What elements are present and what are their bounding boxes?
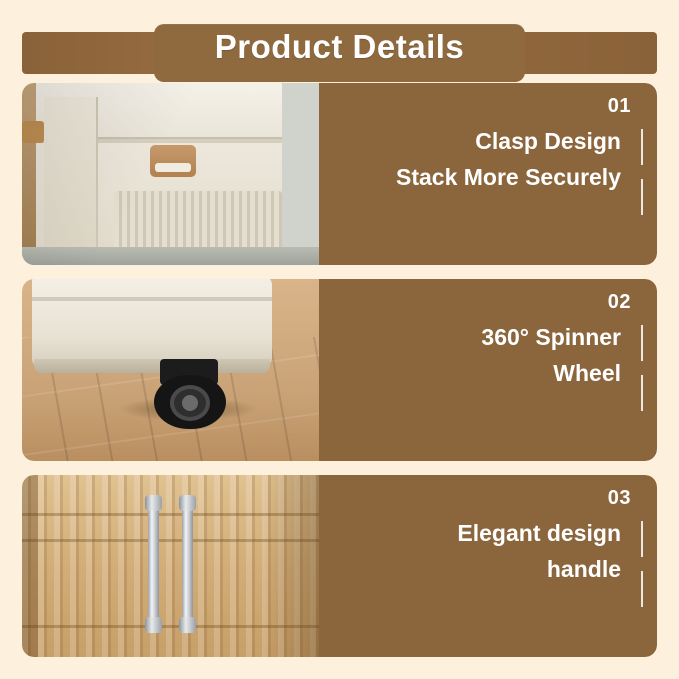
feature-caption-line-2: handle <box>333 552 621 588</box>
mat-edge-right <box>263 475 319 657</box>
feature-text-panel: 02 360° Spinner Wheel <box>319 279 657 461</box>
feature-caption-line-2: Stack More Securely <box>333 160 621 196</box>
feature-number: 03 <box>608 487 631 510</box>
photo-shading <box>22 83 319 265</box>
feature-image-wheel <box>22 279 319 461</box>
feature-caption-line-1: 360° Spinner <box>333 320 621 356</box>
feature-caption-line-1: Clasp Design <box>333 124 621 160</box>
caption-divider-lower <box>641 375 643 411</box>
feature-caption: Clasp Design Stack More Securely <box>333 124 635 195</box>
caption-divider-upper <box>641 521 643 557</box>
header-banner: Product Details <box>22 24 657 69</box>
luggage-case-bottom <box>32 279 272 367</box>
feature-caption: 360° Spinner Wheel <box>333 320 635 391</box>
case-base-edge <box>34 359 270 373</box>
metal-handle-rod-right <box>182 503 193 625</box>
product-details-page: Product Details 01 Clasp Design St <box>0 0 679 679</box>
feature-image-handle <box>22 475 319 657</box>
feature-number: 02 <box>608 291 631 314</box>
case-seam <box>32 297 272 301</box>
feature-image-clasp <box>22 83 319 265</box>
feature-caption: Elegant design handle <box>333 516 635 587</box>
caption-divider-lower <box>641 179 643 215</box>
feature-caption-line-1: Elegant design <box>333 516 621 552</box>
wheel-hub <box>182 395 198 411</box>
feature-list: 01 Clasp Design Stack More Securely <box>22 83 657 657</box>
page-title: Product Details <box>215 28 465 66</box>
caption-divider-lower <box>641 571 643 607</box>
feature-text-panel: 01 Clasp Design Stack More Securely <box>319 83 657 265</box>
feature-text-panel: 03 Elegant design handle <box>319 475 657 657</box>
feature-row: 03 Elegant design handle <box>22 475 657 657</box>
feature-number: 01 <box>608 95 631 118</box>
feature-caption-line-2: Wheel <box>333 356 621 392</box>
caption-divider-upper <box>641 325 643 361</box>
feature-row: 01 Clasp Design Stack More Securely <box>22 83 657 265</box>
mat-edge-left <box>22 475 38 657</box>
caption-divider-upper <box>641 129 643 165</box>
metal-handle-rod-left <box>148 503 159 625</box>
feature-row: 02 360° Spinner Wheel <box>22 279 657 461</box>
